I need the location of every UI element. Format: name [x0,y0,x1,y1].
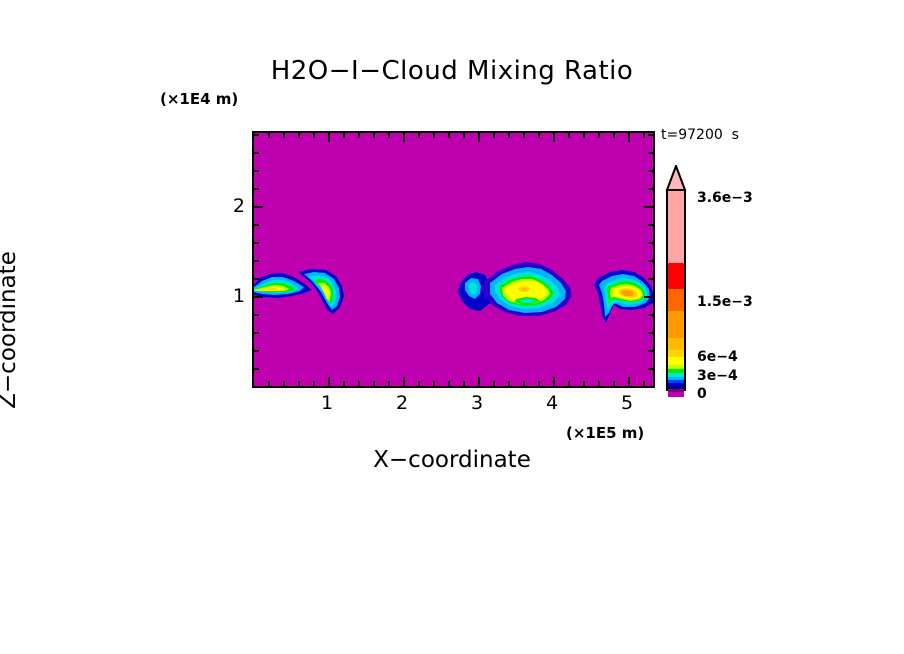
x-minor-tick [313,381,315,386]
x-top-minor-tick [568,133,570,138]
y-minor-tick [254,260,259,262]
x-tick-label: 3 [457,392,497,414]
x-top-minor-tick [268,133,270,138]
timestamp-label: t=97200 s [661,127,739,143]
colorbar-arrow-icon [664,165,688,191]
x-major-tick [328,377,330,386]
x-top-minor-tick [493,133,495,138]
x-minor-tick [283,381,285,386]
colorbar-tick-label: 3e−4 [697,368,738,384]
x-axis-title: X−coordinate [0,447,904,473]
y-right-minor-tick [648,224,653,226]
x-minor-tick [598,381,600,386]
x-top-minor-tick [613,133,615,138]
x-top-minor-tick [343,133,345,138]
y-right-minor-tick [648,278,653,280]
x-minor-tick [493,381,495,386]
colorbar-band [668,392,684,397]
x-top-major-tick [478,133,480,142]
x-major-tick [478,377,480,386]
x-minor-tick [388,381,390,386]
x-minor-tick [448,381,450,386]
colorbar-tick-label: 3.6e−3 [697,190,753,206]
x-top-minor-tick [373,133,375,138]
y-minor-tick [254,224,259,226]
x-tick-label: 4 [532,392,572,414]
x-top-minor-tick [433,133,435,138]
x-major-tick [403,377,405,386]
colorbar-tick-label: 6e−4 [697,349,738,365]
y-tick-label: 2 [205,195,245,217]
y-right-minor-tick [648,332,653,334]
colorbar-band [668,350,684,357]
x-top-minor-tick [508,133,510,138]
y-minor-tick [254,134,259,136]
x-minor-tick [643,381,645,386]
y-right-minor-tick [648,152,653,154]
x-top-major-tick [403,133,405,142]
page-title: H2O−I−Cloud Mixing Ratio [0,56,904,86]
x-top-minor-tick [283,133,285,138]
y-right-major-tick [644,206,653,208]
x-top-minor-tick [388,133,390,138]
y-minor-tick [254,278,259,280]
y-minor-tick [254,368,259,370]
y-right-minor-tick [648,368,653,370]
x-minor-tick [433,381,435,386]
y-major-tick [254,206,263,208]
x-minor-tick [373,381,375,386]
x-tick-label: 5 [607,392,647,414]
x-top-minor-tick [358,133,360,138]
y-axis-title: Z−coordinate [0,180,21,480]
y-right-minor-tick [648,188,653,190]
x-top-minor-tick [538,133,540,138]
y-tick-label: 1 [205,285,245,307]
x-top-minor-tick [313,133,315,138]
colorbar-band [668,338,684,350]
colorbar-tick-label: 1.5e−3 [697,294,753,310]
x-minor-tick [463,381,465,386]
y-minor-tick [254,314,259,316]
x-minor-tick [613,381,615,386]
y-minor-tick [254,170,259,172]
colorbar-band [668,191,684,263]
x-top-minor-tick [583,133,585,138]
x-top-major-tick [628,133,630,142]
x-tick-label: 1 [307,392,347,414]
x-minor-tick [268,381,270,386]
y-minor-tick [254,188,259,190]
y-right-minor-tick [648,170,653,172]
x-top-minor-tick [598,133,600,138]
colorbar-band [668,289,684,311]
x-minor-tick [343,381,345,386]
x-minor-tick [568,381,570,386]
y-right-minor-tick [648,242,653,244]
x-minor-tick [298,381,300,386]
x-minor-tick [418,381,420,386]
colorbar [666,189,686,391]
x-tick-label: 2 [382,392,422,414]
y-minor-tick [254,350,259,352]
x-minor-tick [523,381,525,386]
y-minor-tick [254,152,259,154]
colorbar-band [668,357,684,365]
contour-field [254,133,653,386]
x-top-minor-tick [643,133,645,138]
x-top-minor-tick [418,133,420,138]
y-right-major-tick [644,296,653,298]
x-top-major-tick [328,133,330,142]
x-top-minor-tick [463,133,465,138]
y-axis-units: (×1E4 m) [160,90,238,108]
y-right-minor-tick [648,134,653,136]
x-minor-tick [358,381,360,386]
x-top-major-tick [553,133,555,142]
x-major-tick [553,377,555,386]
y-major-tick [254,296,263,298]
colorbar-band [668,311,684,338]
y-right-minor-tick [648,260,653,262]
x-top-minor-tick [448,133,450,138]
x-minor-tick [538,381,540,386]
x-axis-units: (×1E5 m) [566,424,644,442]
x-minor-tick [508,381,510,386]
y-minor-tick [254,332,259,334]
x-minor-tick [583,381,585,386]
contour-plot-area [252,131,655,388]
colorbar-tick-label: 0 [697,386,707,402]
colorbar-band [668,263,684,289]
x-top-minor-tick [523,133,525,138]
y-right-minor-tick [648,314,653,316]
x-major-tick [628,377,630,386]
y-minor-tick [254,242,259,244]
y-right-minor-tick [648,350,653,352]
x-top-minor-tick [298,133,300,138]
